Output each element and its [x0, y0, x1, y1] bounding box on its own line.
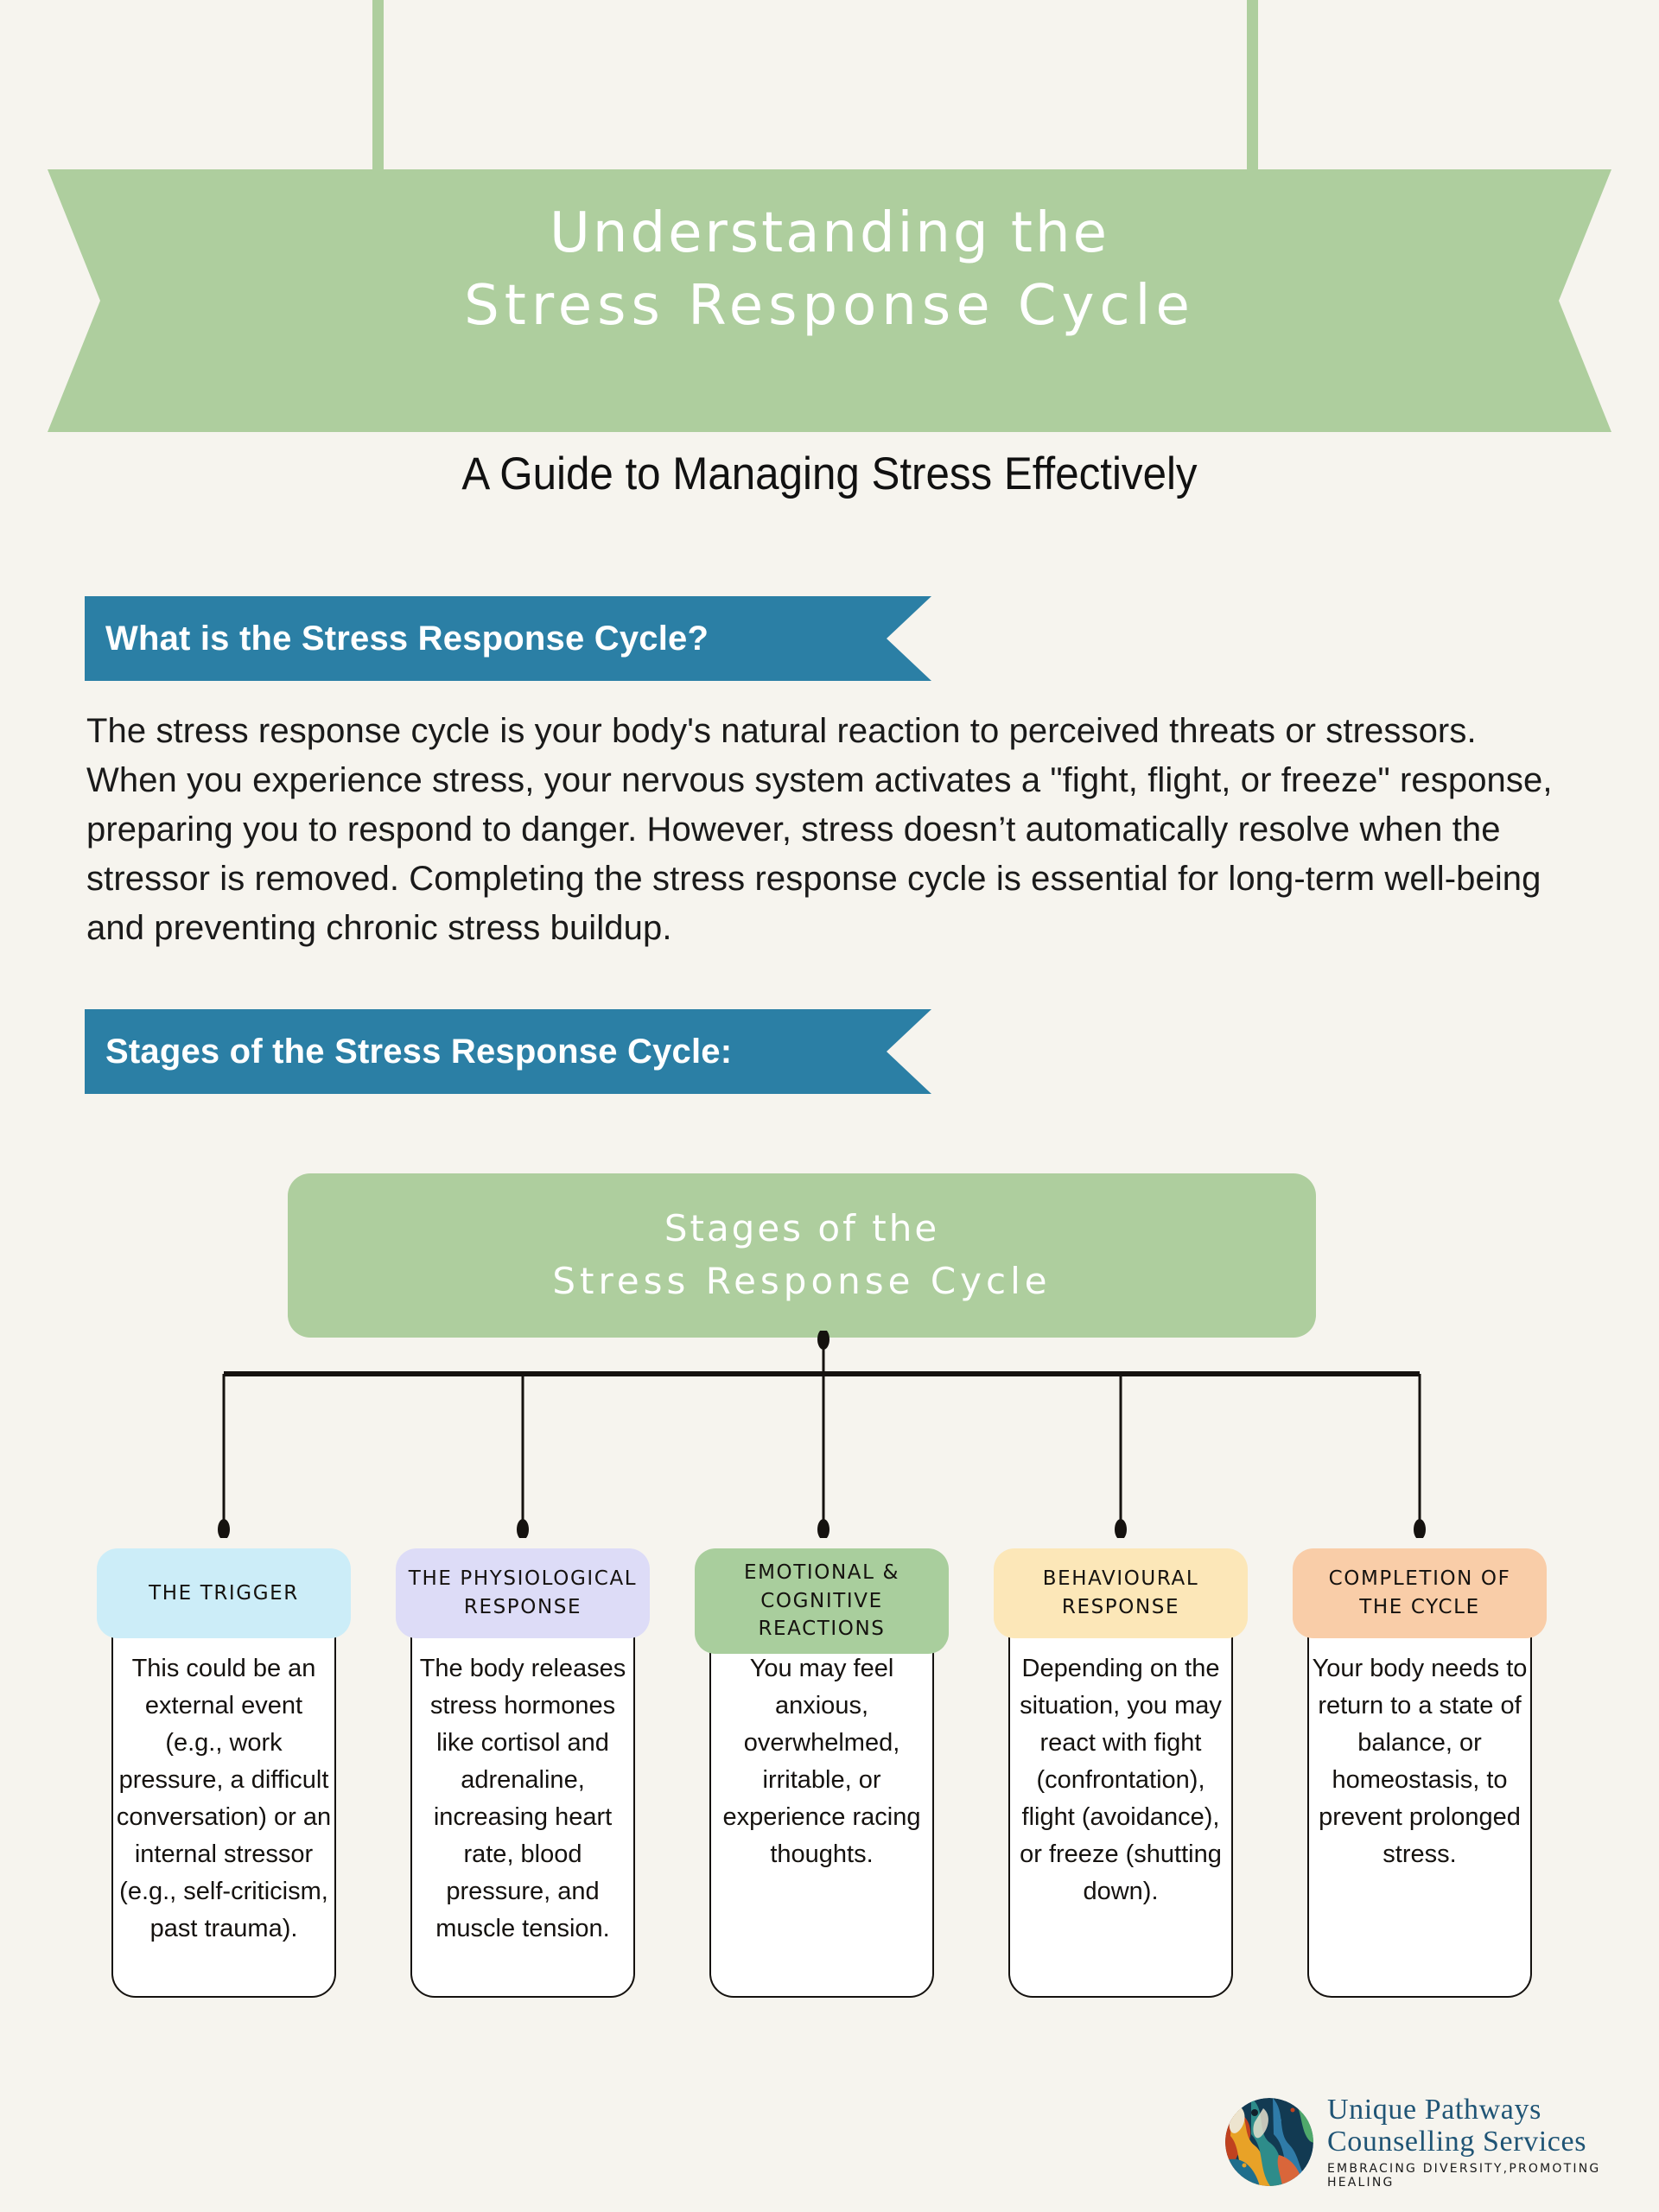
diagram-connectors [0, 1331, 1659, 1538]
page-title-line1: Understanding the [0, 197, 1659, 270]
stage-card-text: Depending on the situation, you may reac… [1013, 1650, 1229, 1910]
logo-wordmark: Unique Pathways Counselling Services Emb… [1327, 2094, 1631, 2190]
stage-card[interactable]: You may feel anxious, overwhelmed, irrit… [695, 1548, 949, 1998]
stage-card-header: Behavioural Response [994, 1548, 1248, 1638]
stage-card[interactable]: This could be an external event (e.g., w… [97, 1548, 351, 1998]
logo-line2: Counselling Services [1327, 2126, 1631, 2158]
intro-paragraph: The stress response cycle is your body's… [86, 707, 1555, 953]
diagram-root-line2: Stress Response Cycle [552, 1255, 1051, 1308]
logo-line1: Unique Pathways [1327, 2094, 1631, 2126]
ribbon-hanger-left [372, 0, 384, 177]
stage-card[interactable]: The body releases stress hormones like c… [396, 1548, 650, 1998]
stage-card[interactable]: Depending on the situation, you may reac… [994, 1548, 1248, 1998]
logo-tagline: Embracing Diversity,Promoting Healing [1327, 2162, 1631, 2190]
section-heading-stages-label: Stages of the Stress Response Cycle: [105, 1009, 732, 1094]
stage-card-header: The Trigger [97, 1548, 351, 1638]
stage-card-header: Emotional & Cognitive Reactions [695, 1548, 949, 1654]
stage-card[interactable]: Your body needs to return to a state of … [1293, 1548, 1547, 1998]
stage-card-text: This could be an external event (e.g., w… [116, 1650, 332, 1948]
stage-card-text: Your body needs to return to a state of … [1312, 1650, 1528, 1873]
page-subtitle: A Guide to Managing Stress Effectively [58, 448, 1601, 500]
diagram-root-node: Stages of the Stress Response Cycle [288, 1173, 1316, 1338]
diagram-root-line1: Stages of the [664, 1203, 939, 1255]
logo-mark-icon [1225, 2098, 1313, 2186]
page-title: Understanding the Stress Response Cycle [0, 197, 1659, 343]
stage-card-text: You may feel anxious, overwhelmed, irrit… [714, 1650, 930, 1873]
section-heading-stages: Stages of the Stress Response Cycle: [85, 1009, 931, 1094]
stage-card-text: The body releases stress hormones like c… [415, 1650, 631, 1948]
section-heading-what-is: What is the Stress Response Cycle? [85, 596, 931, 681]
stage-card-header: The Physiological Response [396, 1548, 650, 1638]
ribbon-hanger-right [1247, 0, 1258, 177]
infographic-page: Understanding the Stress Response Cycle … [0, 0, 1659, 2212]
section-heading-what-is-label: What is the Stress Response Cycle? [105, 596, 709, 681]
footer-logo[interactable]: Unique Pathways Counselling Services Emb… [1225, 2089, 1631, 2195]
page-title-line2: Stress Response Cycle [0, 270, 1659, 342]
stage-card-header: Completion of the Cycle [1293, 1548, 1547, 1638]
